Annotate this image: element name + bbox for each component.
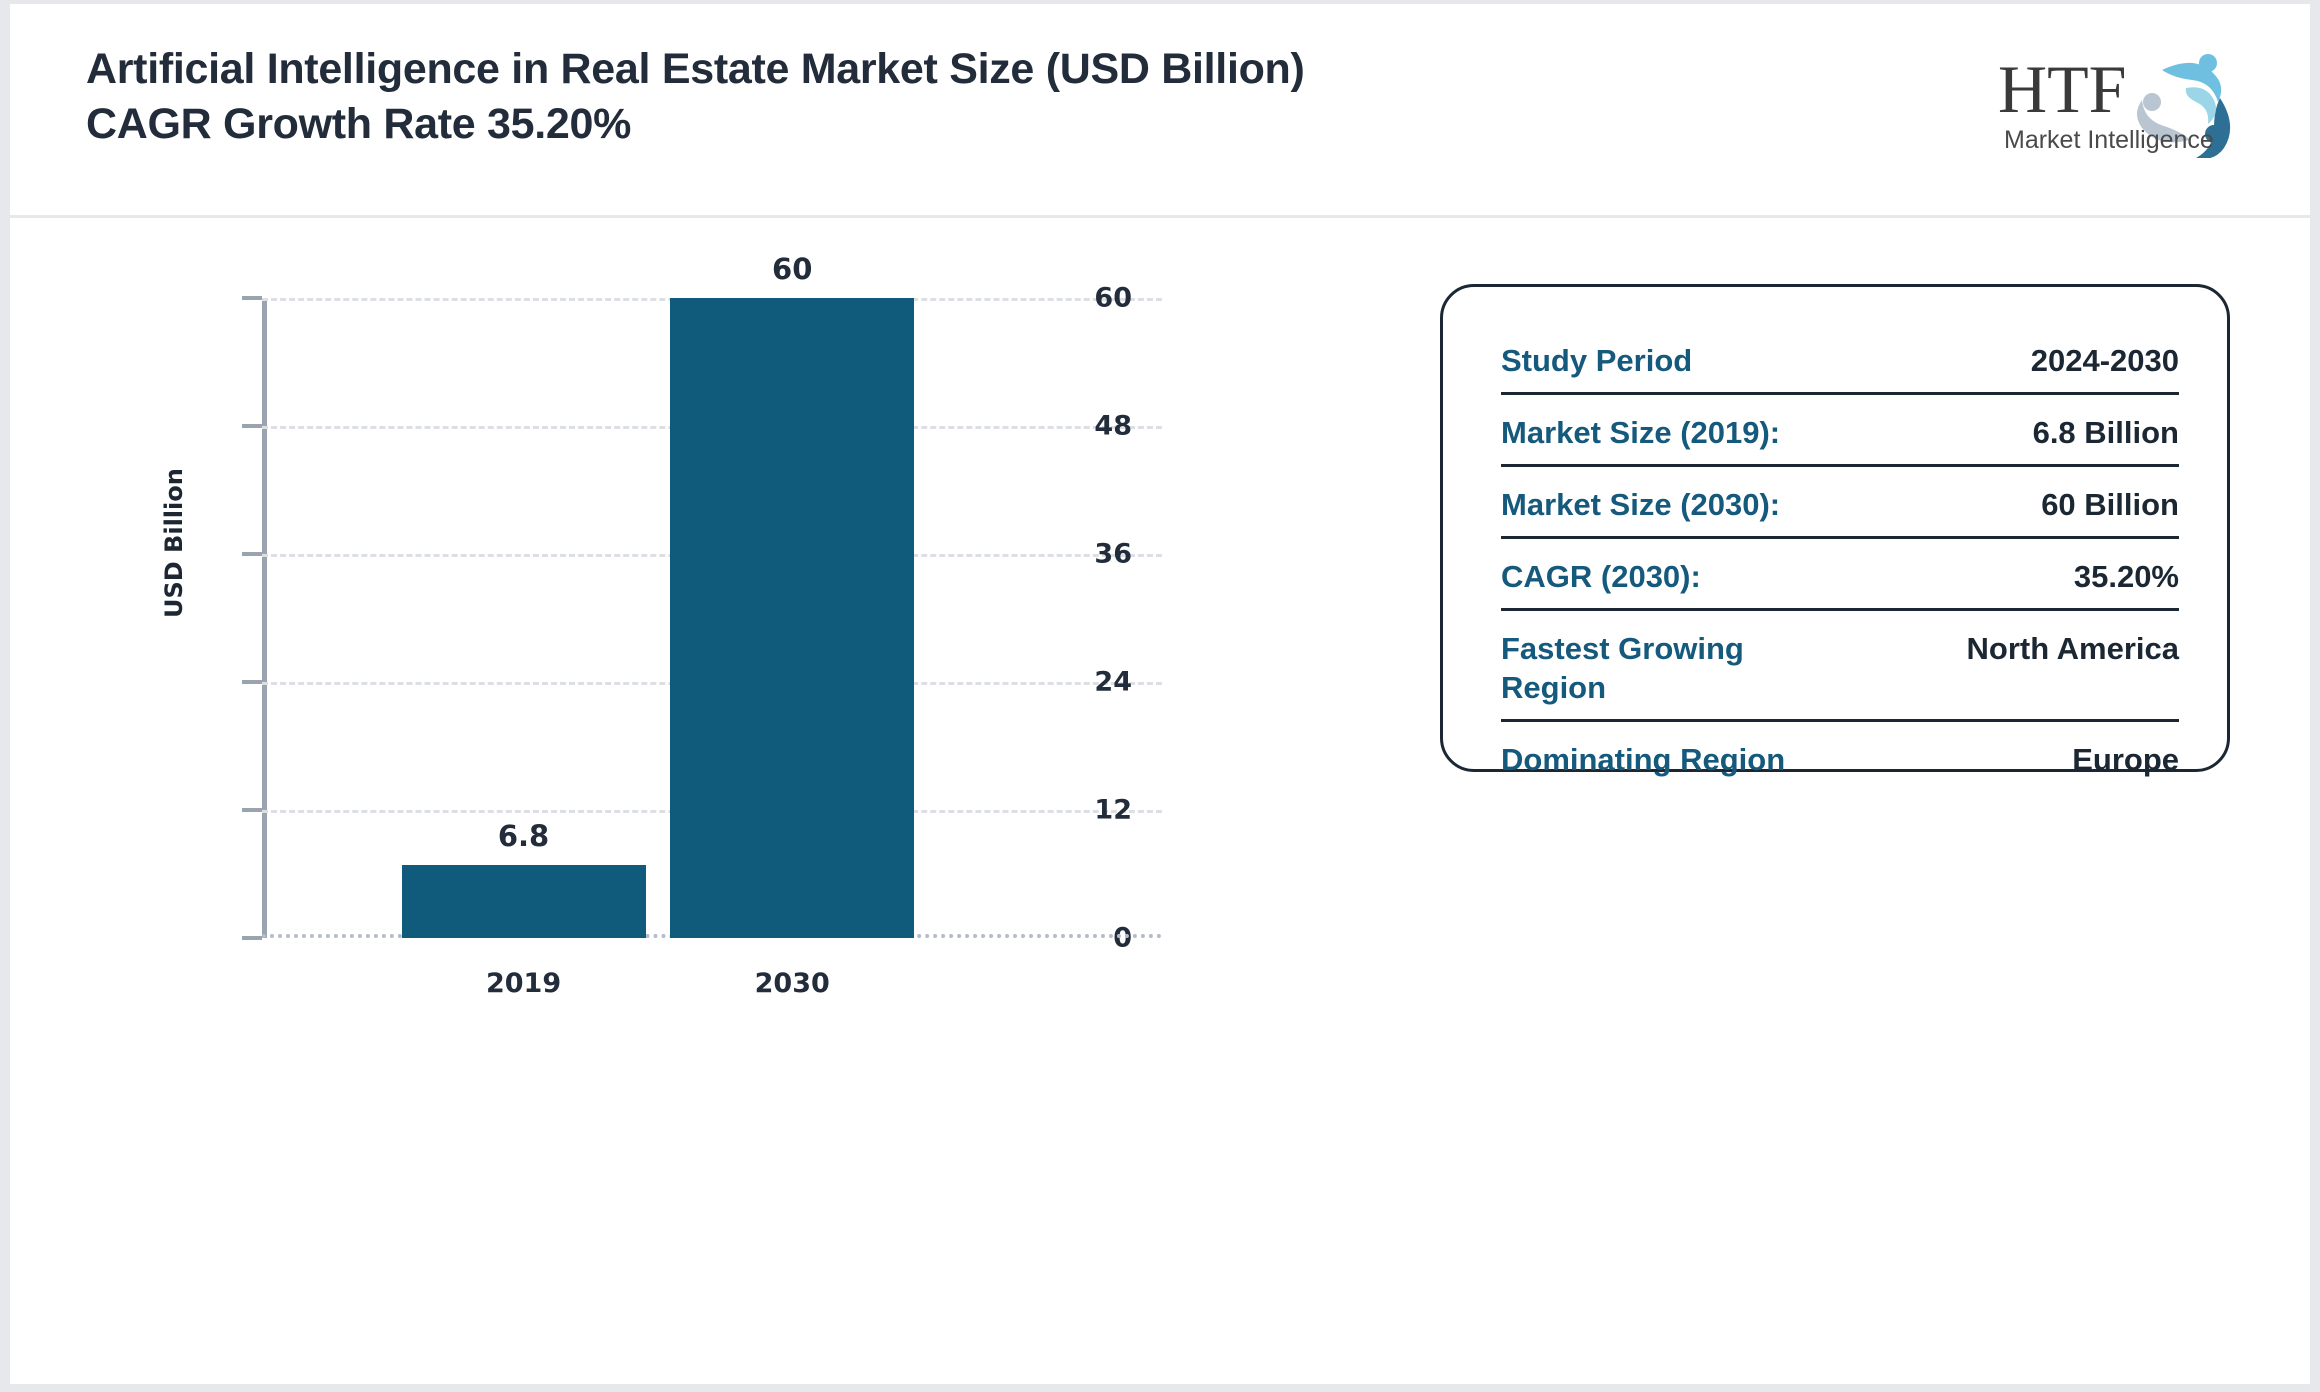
summary-row: CAGR (2030):35.20% [1501, 536, 2179, 608]
summary-row-value: 60 Billion [2041, 485, 2179, 524]
summary-row-label: Market Size (2019): [1501, 413, 1780, 452]
bar[interactable] [402, 865, 646, 938]
y-tick-mark [242, 936, 262, 940]
summary-row: Dominating RegionEurope [1501, 719, 2179, 791]
y-tick-label: 0 [1113, 923, 1132, 954]
y-tick-mark [242, 552, 262, 556]
header: Artificial Intelligence in Real Estate M… [10, 4, 2310, 218]
market-summary-rows: Study Period2024-2030Market Size (2019):… [1501, 335, 2179, 791]
y-tick-label: 48 [1094, 411, 1132, 442]
summary-row-label: Fastest Growing Region [1501, 629, 1831, 707]
market-summary-panel: Study Period2024-2030Market Size (2019):… [1440, 284, 2230, 772]
summary-row-label: Market Size (2030): [1501, 485, 1780, 524]
y-tick-label: 24 [1094, 667, 1132, 698]
y-tick-mark [242, 424, 262, 428]
y-tick-label: 60 [1094, 283, 1132, 314]
summary-row-label: Dominating Region [1501, 740, 1785, 779]
y-tick-mark [242, 296, 262, 300]
summary-row: Fastest Growing RegionNorth America [1501, 608, 2179, 719]
bar-value-label: 6.8 [498, 819, 549, 853]
y-tick-mark [242, 680, 262, 684]
summary-row-value: Europe [2072, 740, 2179, 779]
y-axis-title: USD Billion [160, 468, 188, 618]
x-tick-label: 2030 [755, 968, 830, 999]
bar-value-label: 60 [772, 252, 812, 286]
page-card: Artificial Intelligence in Real Estate M… [10, 4, 2310, 1384]
summary-row-value: North America [1967, 629, 2179, 668]
summary-row: Study Period2024-2030 [1501, 335, 2179, 392]
y-tick-label: 12 [1094, 795, 1132, 826]
y-tick-label: 36 [1094, 539, 1132, 570]
y-tick-mark [242, 808, 262, 812]
page-title: Artificial Intelligence in Real Estate M… [86, 42, 1436, 152]
summary-row-value: 2024-2030 [2031, 341, 2179, 380]
htf-market-intelligence-logo: HTF Market Intelligence [1994, 40, 2254, 158]
summary-row: Market Size (2030):60 Billion [1501, 464, 2179, 536]
bar-chart: USD Billion 01224364860 6.82019602030 [10, 218, 1430, 1384]
x-tick-label: 2019 [486, 968, 561, 999]
plot-area: 01224364860 [262, 298, 1162, 938]
summary-row-label: CAGR (2030): [1501, 557, 1701, 596]
summary-row-value: 35.20% [2074, 557, 2179, 596]
logo-subtitle-text: Market Intelligence [2004, 126, 2214, 154]
summary-row-value: 6.8 Billion [2033, 413, 2179, 452]
logo-htf-text: HTF [1998, 51, 2126, 127]
summary-row: Market Size (2019):6.8 Billion [1501, 392, 2179, 464]
bar[interactable] [670, 298, 914, 938]
summary-row-label: Study Period [1501, 341, 1692, 380]
logo-icon: HTF Market Intelligence [1994, 40, 2254, 158]
